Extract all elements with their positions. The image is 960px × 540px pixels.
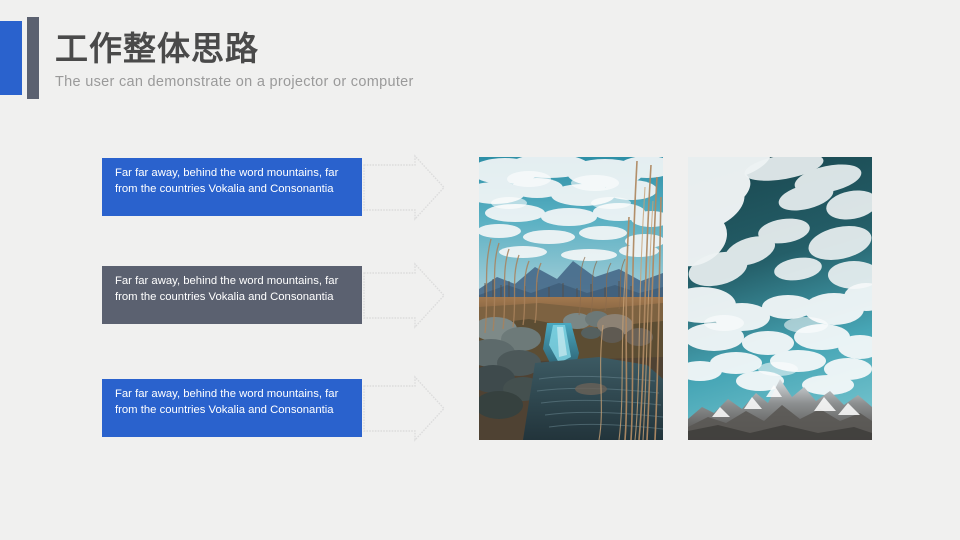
photo-waterfall[interactable] <box>479 157 663 440</box>
page-title: 工作整体思路 <box>55 31 259 67</box>
page-subtitle: The user can demonstrate on a projector … <box>55 74 414 90</box>
text-card-2[interactable]: Far far away, behind the word mountains,… <box>102 266 362 324</box>
arrow-right-outline-2 <box>361 258 447 333</box>
header-accent-bar-gray <box>27 17 39 99</box>
arrow-right-outline-3 <box>361 371 447 446</box>
photo-mountain-sky[interactable] <box>688 157 872 440</box>
content-row-2: Far far away, behind the word mountains,… <box>102 258 443 333</box>
text-card-3[interactable]: Far far away, behind the word mountains,… <box>102 379 362 437</box>
content-row-1: Far far away, behind the word mountains,… <box>102 150 443 225</box>
header-accent-bar-blue <box>0 21 22 95</box>
text-card-1[interactable]: Far far away, behind the word mountains,… <box>102 158 362 216</box>
content-row-3: Far far away, behind the word mountains,… <box>102 371 443 446</box>
arrow-right-outline-1 <box>361 150 447 225</box>
